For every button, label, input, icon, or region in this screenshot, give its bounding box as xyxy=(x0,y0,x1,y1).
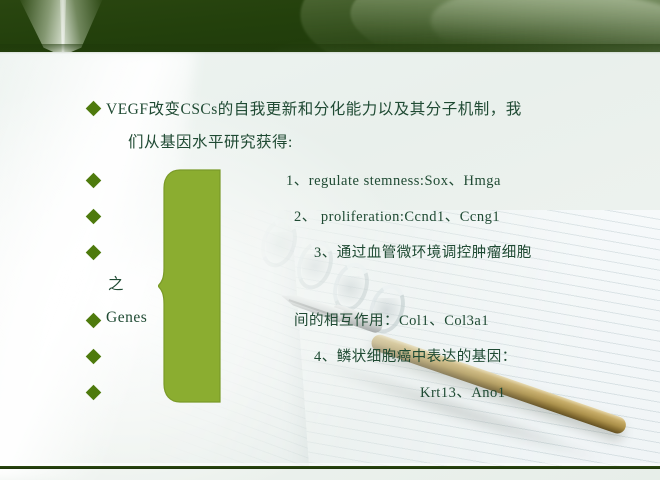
curly-brace-shape xyxy=(158,168,222,404)
lead-text-line-1: VEGF改变CSCs的自我更新和分化能力以及其分子机制，我 xyxy=(106,97,522,119)
gene-list-item-4: 4、鳞状细胞癌中表达的基因： xyxy=(314,345,517,366)
zhi-label: 之 xyxy=(108,272,124,294)
footer-rule xyxy=(0,466,660,469)
gene-list-item-3-cont: 间的相互作用：Col1、Col3a1 xyxy=(294,309,489,330)
genes-label: Genes xyxy=(106,309,147,327)
gene-list-item-4-cont: Krt13、Ano1 xyxy=(420,381,506,402)
gene-list-item-1: 1、regulate stemness:Sox、Hmga xyxy=(286,169,501,190)
lead-text-line-2: 们从基因水平研究获得: xyxy=(128,130,293,152)
presentation-slide: VEGF改变CSCs的自我更新和分化能力以及其分子机制，我 们从基因水平研究获得… xyxy=(0,0,660,480)
gene-list-item-2: 2、 proliferation:Ccnd1、Ccng1 xyxy=(294,205,500,226)
gene-list-item-3: 3、通过血管微环境调控肿瘤细胞 xyxy=(314,241,532,262)
banner-edge-fade xyxy=(0,44,660,54)
